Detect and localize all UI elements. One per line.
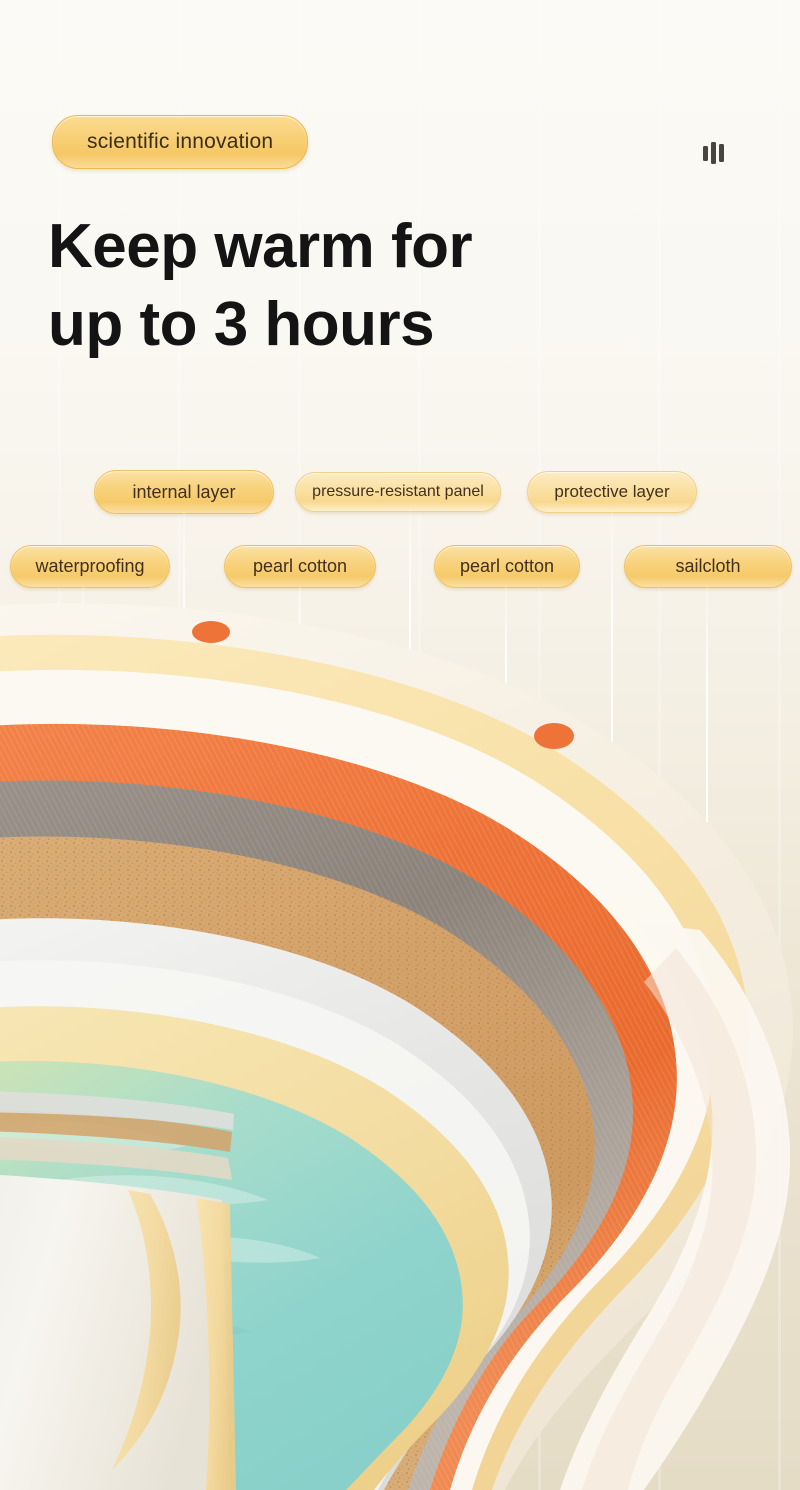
- callout-label: sailcloth: [675, 556, 740, 577]
- audio-bars-icon[interactable]: [698, 140, 728, 166]
- callout-label: waterproofing: [35, 556, 144, 577]
- promo-page: scientific innovation Keep warm for up t…: [0, 0, 800, 1490]
- bowl-body-wall: [0, 1172, 230, 1490]
- callout-label: internal layer: [132, 482, 235, 503]
- page-title: Keep warm for up to 3 hours: [48, 208, 648, 364]
- callout-label: protective layer: [554, 482, 669, 502]
- accent-droplet-left: [192, 621, 230, 643]
- audio-bar-3: [719, 144, 724, 162]
- callout-internal-layer[interactable]: internal layer: [94, 470, 274, 514]
- callout-pressure-resistant-panel[interactable]: pressure-resistant panel: [295, 472, 501, 512]
- insulated-bowl-cutaway-illustration: [0, 580, 800, 1490]
- audio-bar-1: [703, 146, 708, 161]
- callout-label: pearl cotton: [460, 556, 554, 577]
- badge-label: scientific innovation: [87, 130, 273, 154]
- callout-protective-layer[interactable]: protective layer: [527, 471, 697, 513]
- accent-droplet-right: [534, 723, 574, 749]
- headline-line-2: up to 3 hours: [48, 286, 648, 364]
- callout-label: pearl cotton: [253, 556, 347, 577]
- scientific-innovation-badge[interactable]: scientific innovation: [52, 115, 308, 169]
- callout-label: pressure-resistant panel: [312, 483, 484, 501]
- audio-bar-2: [711, 142, 716, 164]
- headline-line-1: Keep warm for: [48, 208, 648, 286]
